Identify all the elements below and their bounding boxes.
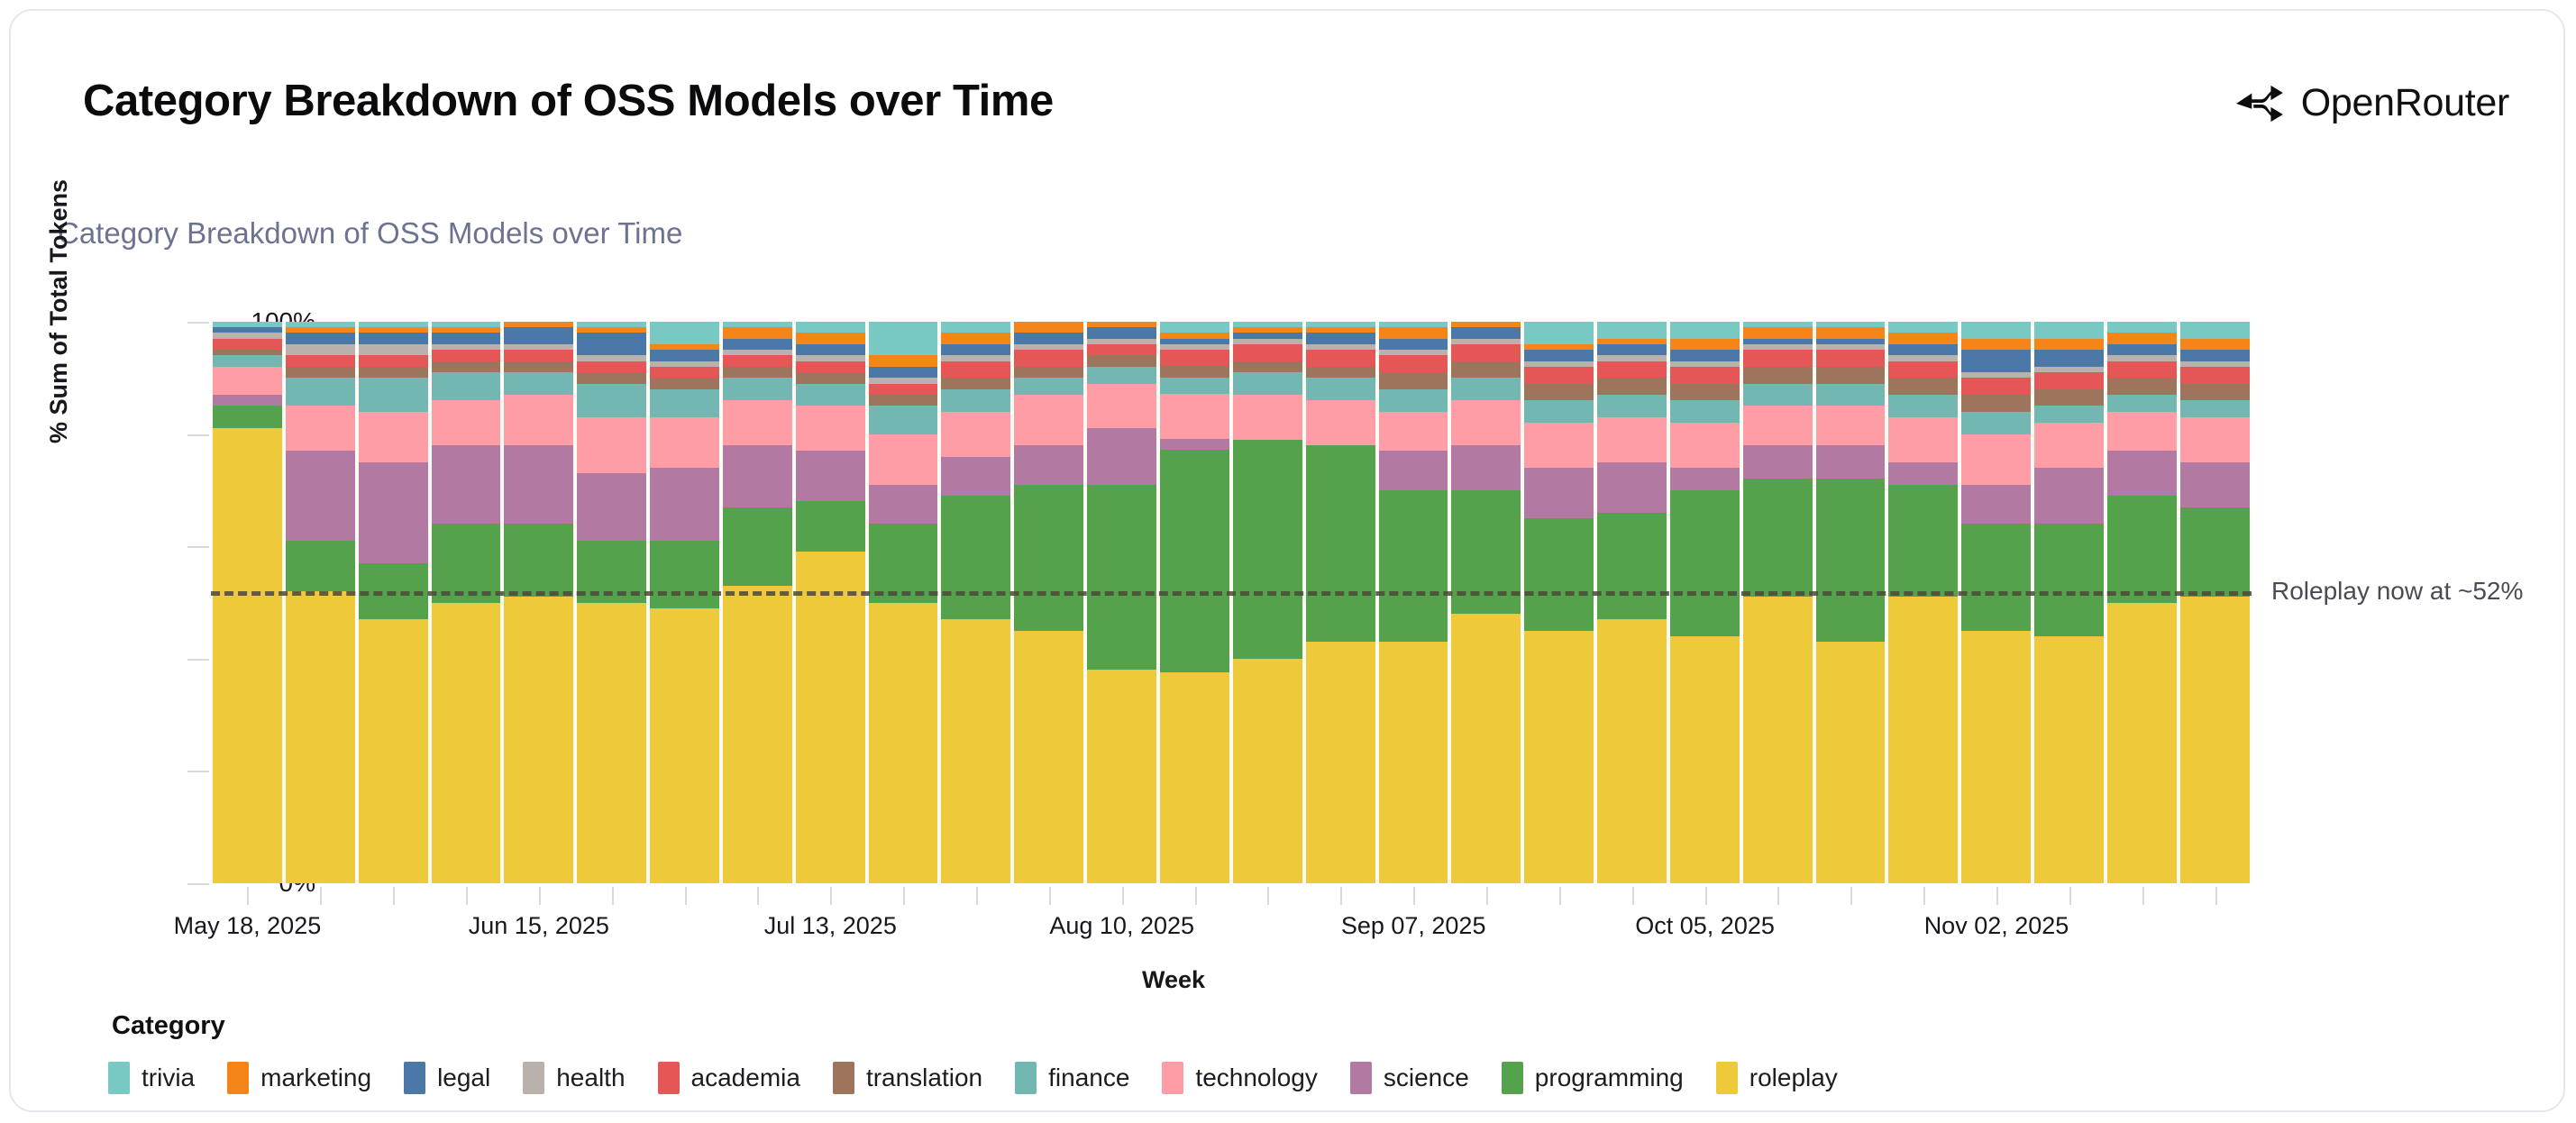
bar-segment-translation[interactable] <box>286 367 355 378</box>
bar-segment-finance[interactable] <box>1014 378 1083 395</box>
bar-segment-legal[interactable] <box>2180 350 2250 361</box>
bar-segment-programming[interactable] <box>1306 445 1375 642</box>
bar-segment-trivia[interactable] <box>941 322 1010 333</box>
bar-segment-finance[interactable] <box>1597 395 1667 417</box>
bar-segment-academia[interactable] <box>796 361 865 372</box>
legend-item-programming[interactable]: programming <box>1502 1062 1684 1094</box>
bar-segment-marketing[interactable] <box>359 327 428 333</box>
bar-segment-health[interactable] <box>1451 339 1521 344</box>
bar-segment-finance[interactable] <box>577 384 646 417</box>
bar-segment-academia[interactable] <box>1816 350 1886 367</box>
bar-segment-science[interactable] <box>723 445 792 507</box>
bar-segment-health[interactable] <box>869 378 938 383</box>
bar-segment-science[interactable] <box>1961 485 2031 525</box>
bar-segment-academia[interactable] <box>213 339 282 350</box>
bar-segment-legal[interactable] <box>1597 344 1667 355</box>
bar-segment-health[interactable] <box>1888 355 1958 361</box>
bar-segment-legal[interactable] <box>2107 344 2177 355</box>
bar-segment-trivia[interactable] <box>869 322 938 355</box>
bar-segment-roleplay[interactable] <box>2034 636 2104 883</box>
bar-segment-trivia[interactable] <box>650 322 719 344</box>
bar-segment-programming[interactable] <box>1816 479 1886 642</box>
bar-segment-science[interactable] <box>1597 462 1667 513</box>
bar-segment-finance[interactable] <box>2107 395 2177 412</box>
bar-segment-science[interactable] <box>286 451 355 541</box>
bar-segment-health[interactable] <box>1087 339 1156 344</box>
legend-item-legal[interactable]: legal <box>404 1062 490 1094</box>
bar-column[interactable] <box>1304 322 1377 883</box>
bar-segment-roleplay[interactable] <box>432 603 501 884</box>
bar-column[interactable] <box>1814 322 1887 883</box>
bar-segment-academia[interactable] <box>577 361 646 372</box>
bar-segment-technology[interactable] <box>869 434 938 485</box>
bar-column[interactable] <box>1959 322 2032 883</box>
bar-segment-academia[interactable] <box>1087 344 1156 355</box>
bar-segment-trivia[interactable] <box>1160 322 1229 333</box>
bar-segment-health[interactable] <box>1961 372 2031 378</box>
bar-segment-finance[interactable] <box>1233 372 1302 395</box>
bar-segment-health[interactable] <box>723 350 792 355</box>
bar-segment-programming[interactable] <box>1014 485 1083 631</box>
bar-segment-science[interactable] <box>941 457 1010 497</box>
bar-segment-programming[interactable] <box>1233 440 1302 659</box>
bar-segment-academia[interactable] <box>1160 350 1229 367</box>
bar-segment-finance[interactable] <box>723 378 792 400</box>
bar-column[interactable] <box>1012 322 1085 883</box>
bar-segment-health[interactable] <box>1306 344 1375 350</box>
bar-segment-translation[interactable] <box>504 361 573 372</box>
bar-segment-legal[interactable] <box>1816 339 1886 344</box>
bar-segment-roleplay[interactable] <box>1743 597 1813 883</box>
bar-segment-roleplay[interactable] <box>1597 619 1667 883</box>
bar-segment-programming[interactable] <box>1160 450 1229 672</box>
bar-segment-science[interactable] <box>650 468 719 541</box>
bar-segment-translation[interactable] <box>2034 389 2104 406</box>
bar-segment-science[interactable] <box>1379 451 1448 490</box>
bar-segment-legal[interactable] <box>286 333 355 343</box>
bar-segment-trivia[interactable] <box>1888 322 1958 333</box>
bar-segment-science[interactable] <box>213 395 282 406</box>
bar-segment-finance[interactable] <box>869 406 938 434</box>
bar-segment-marketing[interactable] <box>286 327 355 333</box>
bar-segment-technology[interactable] <box>650 417 719 468</box>
bar-segment-marketing[interactable] <box>650 344 719 350</box>
legend-item-trivia[interactable]: trivia <box>108 1062 195 1094</box>
bar-segment-programming[interactable] <box>2180 507 2250 598</box>
bar-segment-roleplay[interactable] <box>1524 631 1594 883</box>
bar-segment-roleplay[interactable] <box>1670 636 1740 883</box>
bar-segment-health[interactable] <box>2034 367 2104 372</box>
bar-column[interactable] <box>1595 322 1668 883</box>
bar-segment-academia[interactable] <box>1597 361 1667 379</box>
bar-segment-marketing[interactable] <box>577 327 646 333</box>
bar-segment-health[interactable] <box>1597 355 1667 361</box>
bar-segment-health[interactable] <box>2180 361 2250 367</box>
bar-segment-legal[interactable] <box>1743 339 1813 344</box>
bar-segment-health[interactable] <box>1743 344 1813 350</box>
bar-segment-academia[interactable] <box>1379 355 1448 372</box>
bar-segment-academia[interactable] <box>1014 350 1083 367</box>
bar-segment-marketing[interactable] <box>504 322 573 327</box>
bar-segment-marketing[interactable] <box>941 333 1010 343</box>
bar-segment-roleplay[interactable] <box>286 591 355 883</box>
bar-segment-academia[interactable] <box>2034 372 2104 389</box>
bar-segment-legal[interactable] <box>432 333 501 343</box>
bar-segment-marketing[interactable] <box>796 333 865 343</box>
bar-segment-finance[interactable] <box>1160 378 1229 395</box>
bar-segment-legal[interactable] <box>1160 339 1229 344</box>
bar-column[interactable] <box>1449 322 1522 883</box>
bar-segment-marketing[interactable] <box>1524 344 1594 350</box>
bar-segment-health[interactable] <box>941 355 1010 361</box>
bar-segment-technology[interactable] <box>504 395 573 445</box>
bar-segment-science[interactable] <box>1014 445 1083 485</box>
bar-segment-science[interactable] <box>432 445 501 524</box>
bar-segment-translation[interactable] <box>1014 367 1083 378</box>
bar-segment-trivia[interactable] <box>2180 322 2250 339</box>
bar-column[interactable] <box>648 322 721 883</box>
bar-segment-academia[interactable] <box>286 355 355 366</box>
bar-column[interactable] <box>1741 322 1814 883</box>
bar-segment-marketing[interactable] <box>723 327 792 338</box>
bar-segment-programming[interactable] <box>650 541 719 608</box>
bar-column[interactable] <box>2106 322 2179 883</box>
legend-item-marketing[interactable]: marketing <box>227 1062 371 1094</box>
bar-column[interactable] <box>1231 322 1304 883</box>
bar-segment-translation[interactable] <box>1670 384 1740 401</box>
bar-segment-translation[interactable] <box>723 367 792 378</box>
bar-segment-programming[interactable] <box>941 496 1010 619</box>
bar-segment-marketing[interactable] <box>1670 339 1740 350</box>
bar-segment-roleplay[interactable] <box>504 597 573 883</box>
bar-segment-marketing[interactable] <box>1233 327 1302 333</box>
bar-segment-translation[interactable] <box>359 367 428 378</box>
bar-segment-finance[interactable] <box>1087 367 1156 384</box>
bar-segment-science[interactable] <box>577 473 646 541</box>
bar-segment-translation[interactable] <box>1451 361 1521 379</box>
bar-segment-science[interactable] <box>1816 445 1886 479</box>
bar-segment-science[interactable] <box>1451 445 1521 490</box>
bar-segment-roleplay[interactable] <box>2180 597 2250 883</box>
bar-segment-technology[interactable] <box>1597 417 1667 462</box>
bar-segment-marketing[interactable] <box>1743 327 1813 338</box>
bar-segment-trivia[interactable] <box>1306 322 1375 327</box>
bar-segment-technology[interactable] <box>1961 434 2031 485</box>
bar-segment-health[interactable] <box>1233 339 1302 344</box>
bar-segment-programming[interactable] <box>2107 496 2177 602</box>
bar-segment-translation[interactable] <box>213 350 282 355</box>
bar-segment-translation[interactable] <box>796 372 865 383</box>
legend-item-roleplay[interactable]: roleplay <box>1716 1062 1838 1094</box>
bar-segment-programming[interactable] <box>504 524 573 597</box>
bar-segment-science[interactable] <box>1087 428 1156 484</box>
bar-segment-roleplay[interactable] <box>650 608 719 883</box>
bar-segment-health[interactable] <box>1524 361 1594 367</box>
bar-column[interactable] <box>2179 322 2252 883</box>
bar-segment-health[interactable] <box>1816 344 1886 350</box>
bar-segment-health[interactable] <box>796 355 865 361</box>
bar-segment-finance[interactable] <box>1888 395 1958 417</box>
bar-column[interactable] <box>357 322 430 883</box>
bar-segment-marketing[interactable] <box>432 327 501 333</box>
bar-segment-programming[interactable] <box>1597 513 1667 619</box>
bar-segment-science[interactable] <box>1888 462 1958 485</box>
bar-segment-roleplay[interactable] <box>796 552 865 883</box>
bar-column[interactable] <box>430 322 503 883</box>
bar-segment-technology[interactable] <box>213 367 282 395</box>
bar-segment-translation[interactable] <box>1816 367 1886 384</box>
bar-segment-programming[interactable] <box>1379 490 1448 642</box>
bar-segment-legal[interactable] <box>1961 350 2031 372</box>
bar-segment-academia[interactable] <box>1233 344 1302 361</box>
bar-segment-legal[interactable] <box>650 350 719 361</box>
bar-segment-marketing[interactable] <box>1160 333 1229 338</box>
bar-segment-trivia[interactable] <box>1379 322 1448 327</box>
bar-segment-finance[interactable] <box>2180 400 2250 417</box>
bar-segment-academia[interactable] <box>650 367 719 378</box>
bar-segment-programming[interactable] <box>1888 485 1958 598</box>
bar-segment-marketing[interactable] <box>1961 339 2031 350</box>
bar-segment-legal[interactable] <box>1306 333 1375 343</box>
bar-segment-roleplay[interactable] <box>1160 672 1229 883</box>
bar-segment-finance[interactable] <box>213 355 282 366</box>
bar-segment-roleplay[interactable] <box>1306 642 1375 883</box>
bar-segment-legal[interactable] <box>504 327 573 344</box>
bar-segment-programming[interactable] <box>2034 524 2104 636</box>
bar-segment-programming[interactable] <box>1961 524 2031 630</box>
bar-segment-roleplay[interactable] <box>869 603 938 884</box>
bar-segment-marketing[interactable] <box>1597 339 1667 344</box>
bar-segment-programming[interactable] <box>723 507 792 586</box>
bar-column[interactable] <box>867 322 940 883</box>
bar-segment-technology[interactable] <box>1670 423 1740 468</box>
bar-segment-science[interactable] <box>2180 462 2250 507</box>
bar-segment-trivia[interactable] <box>723 322 792 327</box>
bar-segment-programming[interactable] <box>286 541 355 591</box>
bar-column[interactable] <box>721 322 794 883</box>
bar-segment-legal[interactable] <box>1524 350 1594 361</box>
bar-segment-technology[interactable] <box>1743 406 1813 445</box>
bar-segment-finance[interactable] <box>650 389 719 417</box>
bar-segment-finance[interactable] <box>359 378 428 411</box>
bar-segment-roleplay[interactable] <box>1816 642 1886 883</box>
bar-segment-trivia[interactable] <box>1597 322 1667 339</box>
bar-segment-translation[interactable] <box>869 395 938 406</box>
bar-column[interactable] <box>939 322 1012 883</box>
bar-segment-translation[interactable] <box>432 361 501 372</box>
bar-column[interactable] <box>794 322 867 883</box>
bar-segment-marketing[interactable] <box>1816 327 1886 338</box>
bar-segment-academia[interactable] <box>723 355 792 366</box>
bar-segment-academia[interactable] <box>941 361 1010 379</box>
bar-segment-science[interactable] <box>1160 439 1229 450</box>
bar-segment-health[interactable] <box>1670 361 1740 367</box>
bar-segment-legal[interactable] <box>1670 350 1740 361</box>
bar-segment-finance[interactable] <box>941 389 1010 412</box>
bar-segment-marketing[interactable] <box>1014 322 1083 333</box>
bar-segment-programming[interactable] <box>1743 479 1813 597</box>
bar-segment-technology[interactable] <box>941 412 1010 457</box>
bar-segment-academia[interactable] <box>1888 361 1958 379</box>
bar-segment-roleplay[interactable] <box>1961 631 2031 883</box>
bar-segment-marketing[interactable] <box>1087 322 1156 327</box>
bar-segment-health[interactable] <box>1379 350 1448 355</box>
bar-segment-academia[interactable] <box>869 384 938 395</box>
bar-segment-marketing[interactable] <box>1306 327 1375 333</box>
bar-segment-science[interactable] <box>1743 445 1813 479</box>
bar-segment-trivia[interactable] <box>796 322 865 333</box>
bar-segment-roleplay[interactable] <box>1379 642 1448 883</box>
bar-segment-technology[interactable] <box>796 406 865 451</box>
bar-segment-marketing[interactable] <box>1379 327 1448 338</box>
bar-segment-technology[interactable] <box>1087 384 1156 429</box>
bar-segment-finance[interactable] <box>1670 400 1740 423</box>
bar-segment-legal[interactable] <box>359 333 428 343</box>
bar-column[interactable] <box>284 322 357 883</box>
bar-segment-technology[interactable] <box>2107 412 2177 452</box>
bar-segment-marketing[interactable] <box>1888 333 1958 343</box>
bar-segment-roleplay[interactable] <box>723 586 792 883</box>
bar-segment-translation[interactable] <box>650 378 719 388</box>
legend-item-translation[interactable]: translation <box>833 1062 982 1094</box>
bar-column[interactable] <box>2032 322 2106 883</box>
bar-segment-finance[interactable] <box>2034 406 2104 423</box>
bar-segment-technology[interactable] <box>1888 417 1958 462</box>
bar-segment-trivia[interactable] <box>432 322 501 327</box>
bar-segment-technology[interactable] <box>286 406 355 451</box>
bar-segment-marketing[interactable] <box>2034 339 2104 350</box>
bar-segment-roleplay[interactable] <box>2107 603 2177 884</box>
bar-segment-health[interactable] <box>359 344 428 355</box>
bar-segment-trivia[interactable] <box>2107 322 2177 333</box>
bar-segment-academia[interactable] <box>1306 350 1375 367</box>
bar-segment-academia[interactable] <box>2180 367 2250 384</box>
bar-segment-finance[interactable] <box>1524 400 1594 423</box>
bar-segment-health[interactable] <box>650 361 719 367</box>
bar-segment-technology[interactable] <box>359 412 428 462</box>
bar-segment-roleplay[interactable] <box>941 619 1010 883</box>
bar-segment-legal[interactable] <box>1379 339 1448 350</box>
bar-segment-marketing[interactable] <box>2180 339 2250 350</box>
bar-segment-trivia[interactable] <box>1524 322 1594 344</box>
bar-segment-academia[interactable] <box>2107 361 2177 379</box>
bar-segment-science[interactable] <box>2107 451 2177 496</box>
bar-segment-programming[interactable] <box>796 501 865 552</box>
bar-segment-technology[interactable] <box>1524 423 1594 468</box>
bar-segment-academia[interactable] <box>359 355 428 366</box>
bar-segment-marketing[interactable] <box>1451 322 1521 327</box>
bar-column[interactable] <box>1668 322 1741 883</box>
bar-column[interactable] <box>211 322 284 883</box>
bar-segment-translation[interactable] <box>577 372 646 383</box>
bar-segment-academia[interactable] <box>1524 367 1594 384</box>
bar-segment-technology[interactable] <box>1451 400 1521 445</box>
bar-segment-technology[interactable] <box>1160 394 1229 438</box>
bar-segment-roleplay[interactable] <box>359 619 428 883</box>
bar-segment-legal[interactable] <box>1014 333 1083 343</box>
bar-segment-health[interactable] <box>286 344 355 355</box>
bar-segment-academia[interactable] <box>504 350 573 361</box>
bar-segment-translation[interactable] <box>1743 367 1813 384</box>
bar-segment-legal[interactable] <box>1087 327 1156 338</box>
bar-segment-translation[interactable] <box>1961 395 2031 412</box>
bar-segment-legal[interactable] <box>723 339 792 350</box>
bar-segment-trivia[interactable] <box>359 322 428 327</box>
bar-segment-legal[interactable] <box>796 344 865 355</box>
bar-segment-roleplay[interactable] <box>1014 631 1083 883</box>
bar-segment-finance[interactable] <box>1743 384 1813 406</box>
bar-segment-finance[interactable] <box>1451 378 1521 400</box>
bar-segment-trivia[interactable] <box>286 322 355 327</box>
bar-segment-finance[interactable] <box>1961 412 2031 434</box>
legend-item-science[interactable]: science <box>1350 1062 1469 1094</box>
bar-segment-health[interactable] <box>2107 355 2177 361</box>
bar-segment-translation[interactable] <box>2180 384 2250 401</box>
bar-segment-finance[interactable] <box>1306 378 1375 400</box>
bar-segment-academia[interactable] <box>1743 350 1813 367</box>
bar-segment-science[interactable] <box>869 485 938 525</box>
bar-column[interactable] <box>1085 322 1158 883</box>
bar-segment-translation[interactable] <box>1888 378 1958 395</box>
bar-segment-translation[interactable] <box>1524 384 1594 401</box>
bar-segment-technology[interactable] <box>2180 417 2250 462</box>
bar-segment-translation[interactable] <box>2107 378 2177 395</box>
bar-segment-science[interactable] <box>1524 468 1594 518</box>
bar-segment-translation[interactable] <box>1597 378 1667 395</box>
bar-segment-health[interactable] <box>1014 344 1083 350</box>
bar-segment-legal[interactable] <box>1233 333 1302 338</box>
bar-segment-academia[interactable] <box>1670 367 1740 384</box>
legend-item-finance[interactable]: finance <box>1015 1062 1129 1094</box>
bar-segment-health[interactable] <box>577 355 646 361</box>
bar-segment-finance[interactable] <box>432 372 501 400</box>
bar-segment-trivia[interactable] <box>1961 322 2031 339</box>
bar-segment-health[interactable] <box>1160 344 1229 350</box>
bar-segment-legal[interactable] <box>577 333 646 355</box>
bar-segment-academia[interactable] <box>1451 344 1521 361</box>
bar-column[interactable] <box>1886 322 1959 883</box>
bar-segment-health[interactable] <box>213 333 282 338</box>
bar-segment-technology[interactable] <box>1233 395 1302 440</box>
bar-segment-technology[interactable] <box>577 417 646 473</box>
bar-segment-legal[interactable] <box>213 327 282 333</box>
bar-segment-finance[interactable] <box>1816 384 1886 406</box>
bar-segment-health[interactable] <box>432 344 501 350</box>
bar-segment-technology[interactable] <box>723 400 792 445</box>
bar-segment-roleplay[interactable] <box>1233 659 1302 883</box>
bar-segment-trivia[interactable] <box>2034 322 2104 339</box>
bar-segment-finance[interactable] <box>286 378 355 406</box>
bar-segment-programming[interactable] <box>213 406 282 428</box>
bar-segment-trivia[interactable] <box>1743 322 1813 327</box>
bar-segment-roleplay[interactable] <box>1888 597 1958 883</box>
bar-segment-legal[interactable] <box>1888 344 1958 355</box>
bar-column[interactable] <box>502 322 575 883</box>
bar-segment-legal[interactable] <box>941 344 1010 355</box>
bar-segment-translation[interactable] <box>941 378 1010 388</box>
bar-segment-trivia[interactable] <box>1233 322 1302 327</box>
bar-segment-science[interactable] <box>1670 468 1740 490</box>
bar-segment-finance[interactable] <box>796 384 865 406</box>
legend-item-academia[interactable]: academia <box>658 1062 800 1094</box>
bar-segment-programming[interactable] <box>1670 490 1740 636</box>
bar-segment-science[interactable] <box>359 462 428 563</box>
bar-segment-academia[interactable] <box>1961 378 2031 395</box>
bar-segment-science[interactable] <box>796 451 865 501</box>
bar-segment-roleplay[interactable] <box>1087 670 1156 883</box>
bar-segment-translation[interactable] <box>1306 367 1375 378</box>
bar-segment-programming[interactable] <box>1087 485 1156 671</box>
